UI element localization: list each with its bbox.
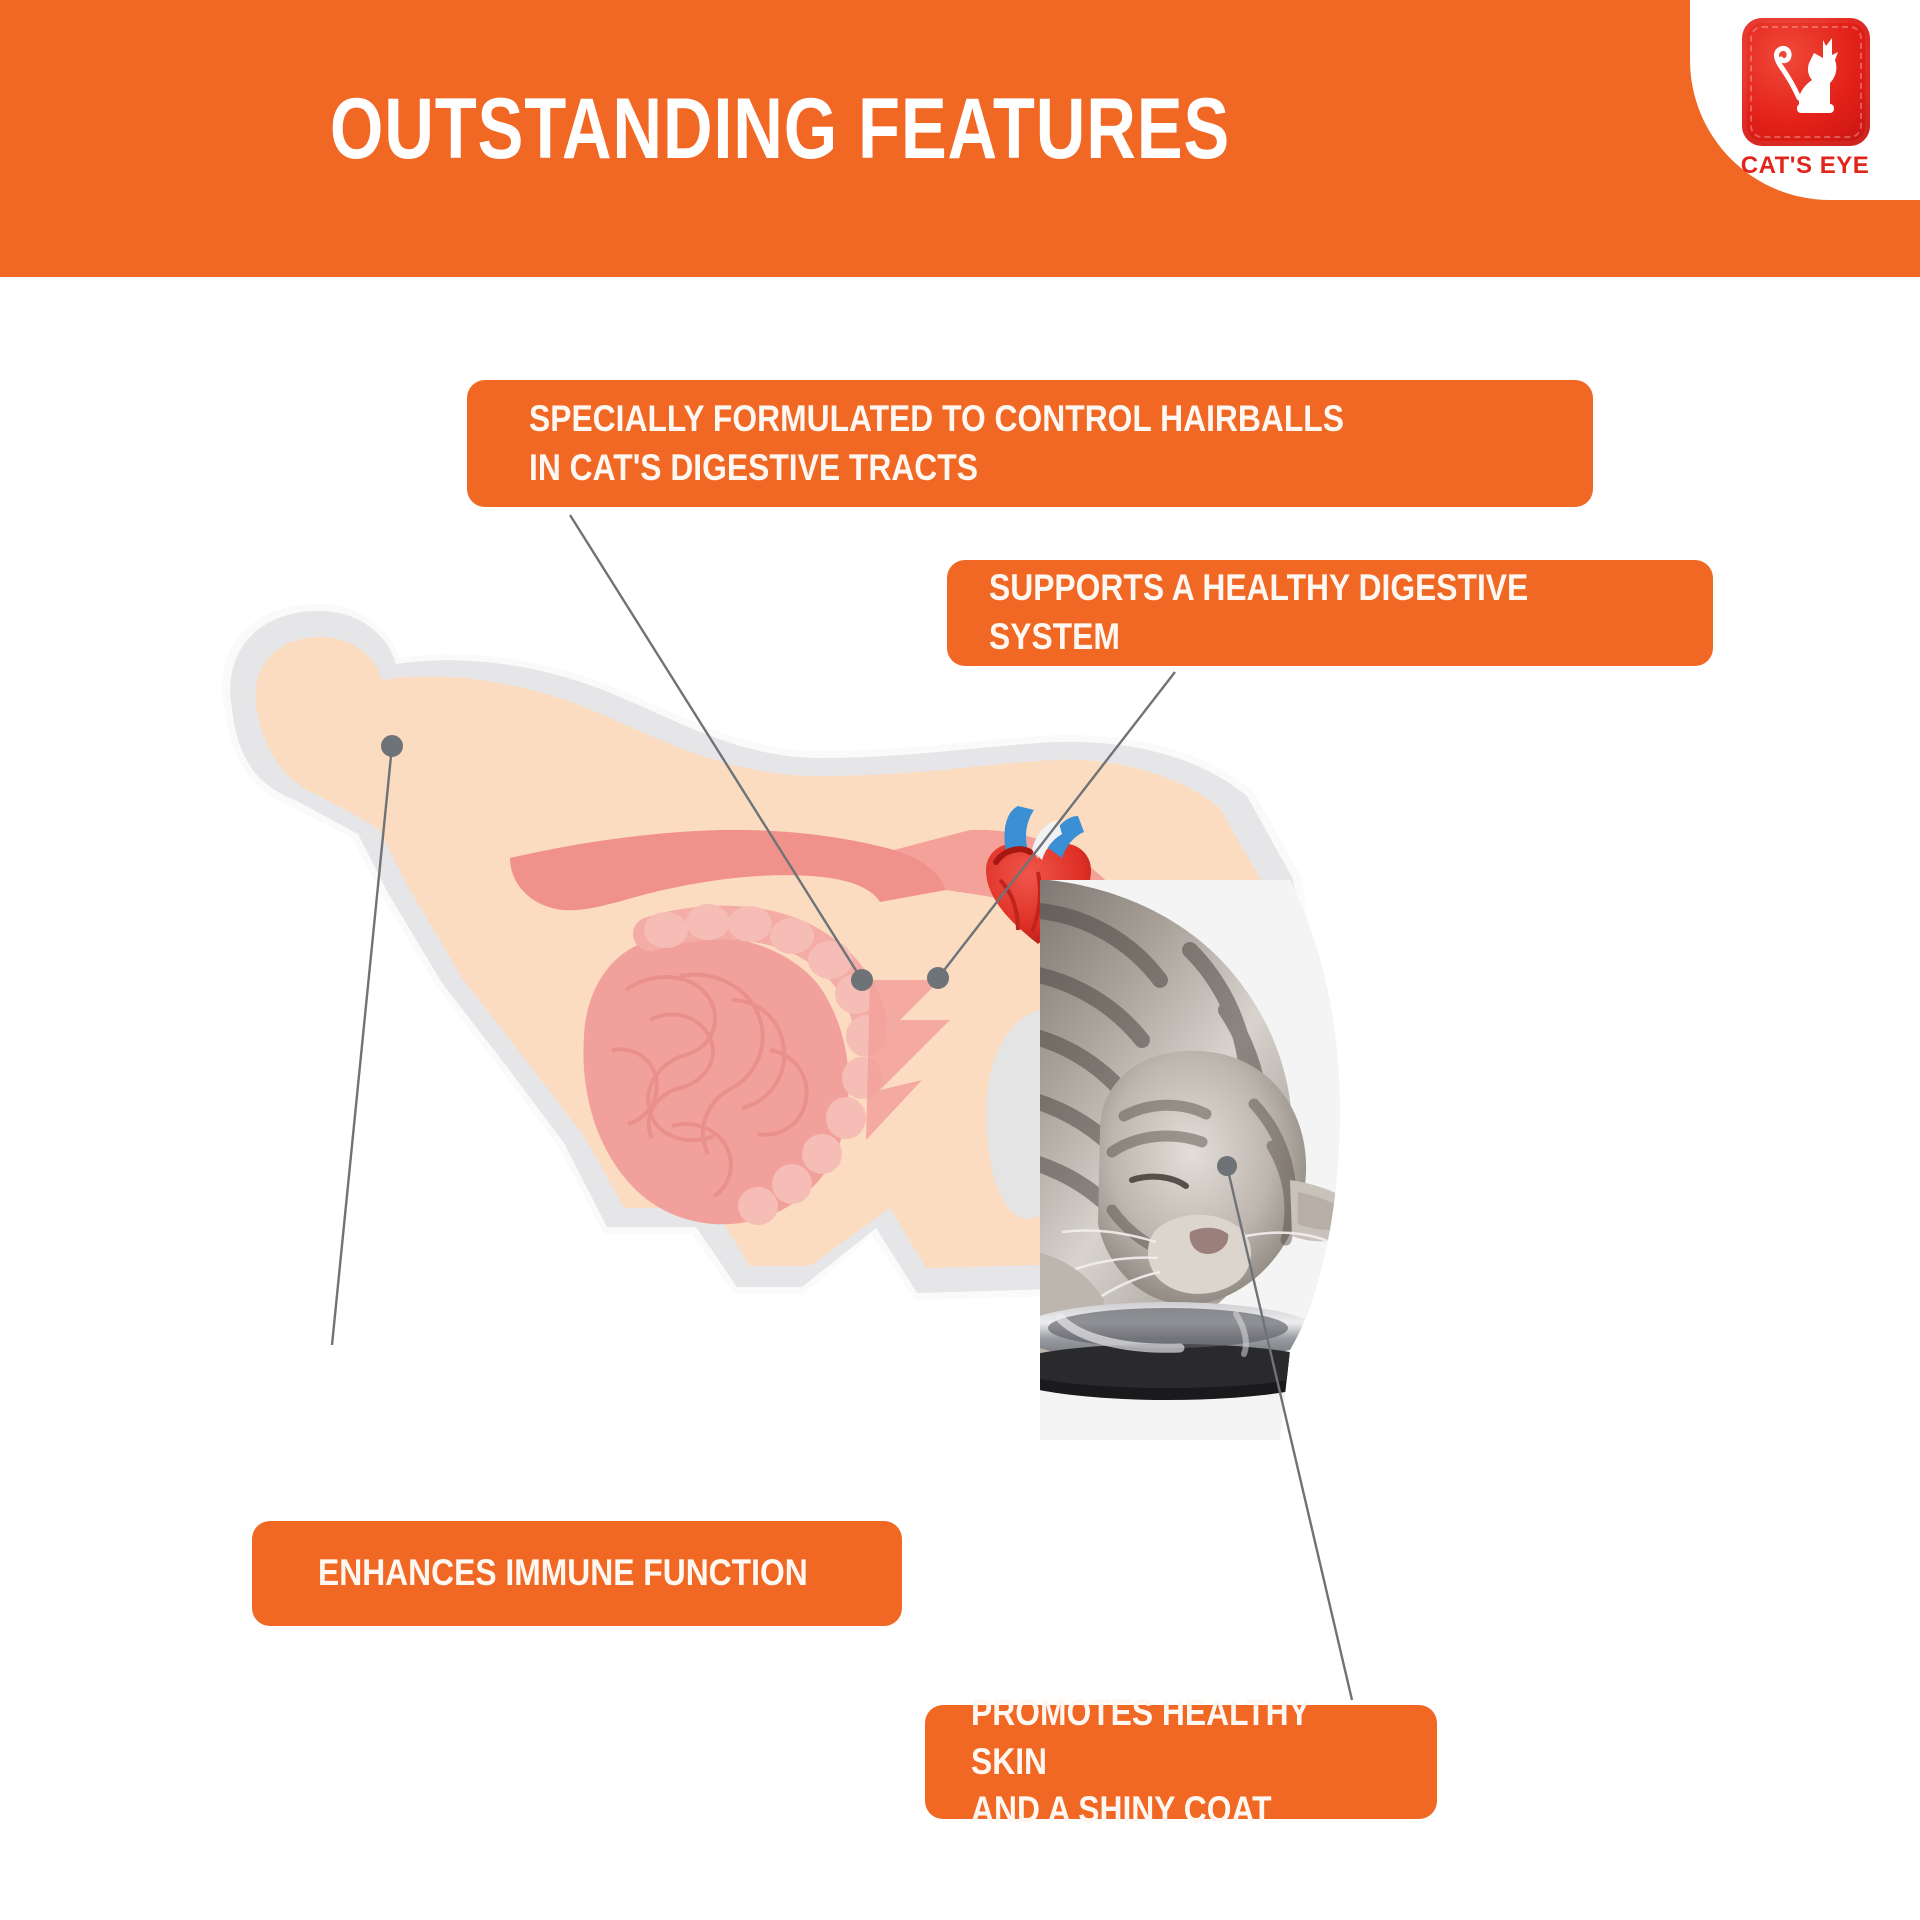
photo-content — [1040, 880, 1374, 1440]
callout-skin-and-coat[interactable]: PROMOTES HEALTHY SKIN AND A SHINY COAT — [925, 1705, 1437, 1819]
cat-silhouette-icon — [1766, 34, 1852, 130]
callout-control-hairballs[interactable]: SPECIALLY FORMULATED TO CONTROL HAIRBALL… — [467, 380, 1593, 507]
callout-label: SPECIALLY FORMULATED TO CONTROL HAIRBALL… — [529, 395, 1344, 493]
photo-cat-eating-from-bowl — [1040, 880, 1500, 1470]
logo-wordmark: CAT'S EYE — [1690, 152, 1920, 180]
callout-label: SUPPORTS A HEALTHY DIGESTIVE SYSTEM — [989, 564, 1612, 662]
callout-healthy-digestive-system[interactable]: SUPPORTS A HEALTHY DIGESTIVE SYSTEM — [947, 560, 1713, 666]
food-bowl — [1040, 1302, 1336, 1400]
page-title: OUTSTANDING FEATURES — [156, 84, 1404, 174]
callout-immune-function[interactable]: ENHANCES IMMUNE FUNCTION — [252, 1521, 902, 1626]
brand-logo[interactable]: CAT'S EYE — [1690, 0, 1920, 200]
page-header: OUTSTANDING FEATURES — [0, 0, 1920, 277]
callout-label: PROMOTES HEALTHY SKIN AND A SHINY COAT — [971, 1689, 1372, 1835]
callout-label: ENHANCES IMMUNE FUNCTION — [318, 1549, 808, 1598]
logo-badge — [1742, 18, 1870, 146]
